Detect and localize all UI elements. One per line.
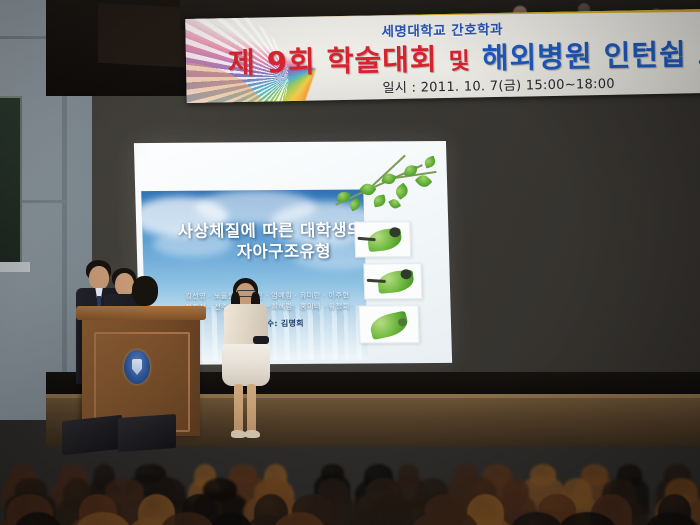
leaf-bird-card xyxy=(363,263,422,299)
leaf-bird-card xyxy=(358,305,419,343)
leaf-bird-card xyxy=(354,221,411,257)
university-emblem-icon xyxy=(124,350,150,384)
banner-title-part2: 해외병원 인턴쉽 보고회 xyxy=(482,36,700,76)
audience-head xyxy=(229,464,257,483)
ceiling-dark-area xyxy=(46,0,186,96)
bird-head xyxy=(400,269,411,279)
event-banner: 세명대학교 간호학과 제 9회 학술대회 및 해외병원 인턴쉽 보고회 일시 :… xyxy=(185,9,700,103)
audience-head xyxy=(398,464,419,486)
bird-head xyxy=(398,318,407,326)
presenter-clicker xyxy=(253,336,269,344)
leaf xyxy=(348,198,362,212)
wall-dark-panel xyxy=(0,96,22,263)
bird-beak xyxy=(367,279,386,283)
hair-dark-mass xyxy=(132,276,158,306)
banner-title-mid: 및 xyxy=(448,49,471,75)
head xyxy=(89,266,109,290)
slide-branch-graphic xyxy=(332,147,446,228)
leaf xyxy=(393,183,411,200)
banner-date: 일시 : 2011. 10. 7(금) 15:00~18:00 xyxy=(382,73,615,96)
conference-photo-scene: 세명대학교 간호학과 제 9회 학술대회 및 해외병원 인턴쉽 보고회 일시 :… xyxy=(0,0,700,525)
audience-head xyxy=(503,478,530,506)
bird-beak xyxy=(358,237,376,241)
podium-top xyxy=(76,306,206,320)
dress-skirt xyxy=(222,344,270,386)
banner-title-part1: 제 9회 학술대회 xyxy=(228,42,438,80)
wall-base-trim xyxy=(0,262,30,272)
bird-head xyxy=(389,227,400,237)
audience-area: {} xyxy=(0,396,700,525)
leaf xyxy=(423,156,437,169)
audience-head xyxy=(530,464,557,486)
leaf xyxy=(373,194,387,207)
